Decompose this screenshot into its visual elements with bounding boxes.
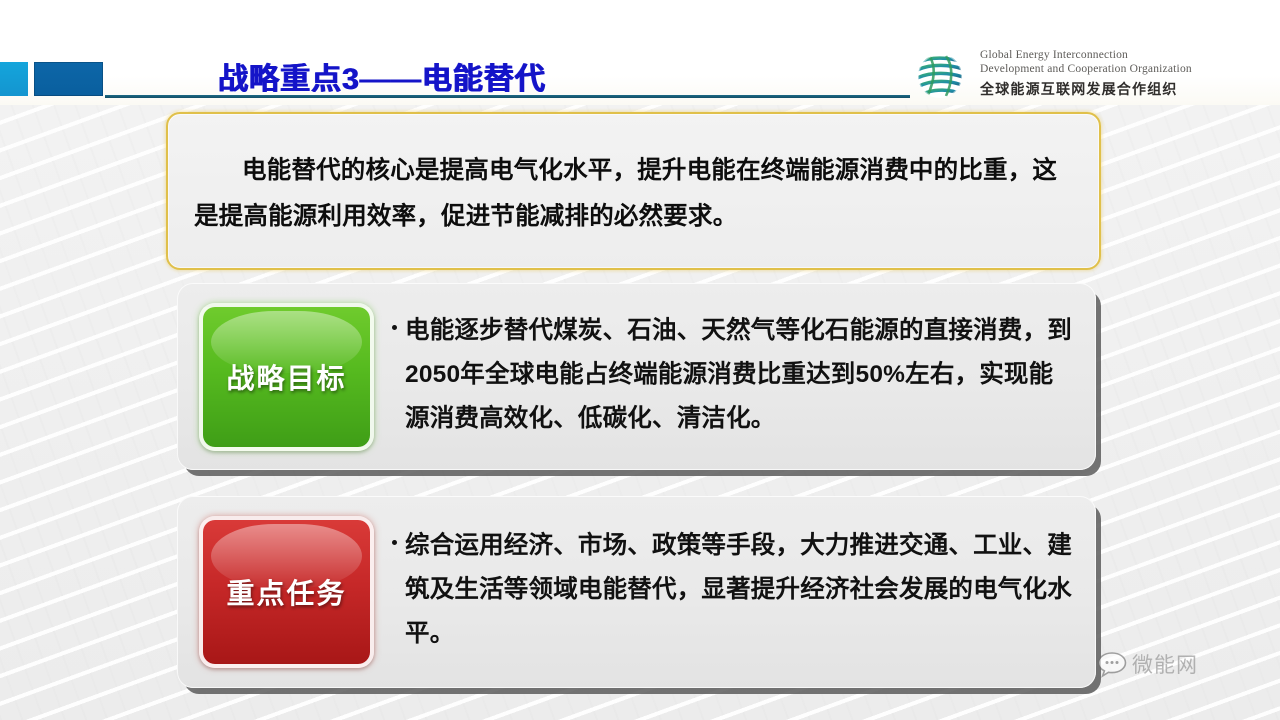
key-task-body: 综合运用经济、市场、政策等手段，大力推进交通、工业、建筑及生活等领域电能替代，显…	[405, 524, 1075, 656]
globe-icon	[912, 51, 968, 101]
strategy-goal-card: 战略目标 电能逐步替代煤炭、石油、天然气等化石能源的直接消费，到2050年全球电…	[177, 283, 1096, 470]
strategy-goal-text: 电能逐步替代煤炭、石油、天然气等化石能源的直接消费，到2050年全球电能占终端能…	[405, 317, 1072, 432]
site-watermark: 微能网	[1096, 648, 1198, 680]
page-title: 战略重点3——电能替代	[218, 54, 546, 98]
logo-text-block: Global Energy Interconnection Developmen…	[980, 49, 1260, 99]
speech-bubble-icon	[1096, 648, 1128, 680]
intro-paragraph: 电能替代的核心是提高电气化水平，提升电能在终端能源消费中的比重，这是提高能源利用…	[194, 148, 1076, 240]
header-accent-block-dark	[34, 62, 103, 96]
organization-logo: Global Energy Interconnection Developmen…	[912, 49, 1262, 103]
badge-label: 战略目标	[226, 357, 346, 397]
key-task-card: 重点任务 综合运用经济、市场、政策等手段，大力推进交通、工业、建筑及生活等领域电…	[177, 496, 1096, 688]
slide-header: 战略重点3——电能替代	[0, 0, 1280, 105]
strategy-goal-badge: 战略目标	[199, 303, 374, 451]
logo-english-line-2: Development and Cooperation Organization	[980, 63, 1260, 77]
watermark-label: 微能网	[1132, 649, 1198, 679]
key-task-text: 综合运用经济、市场、政策等手段，大力推进交通、工业、建筑及生活等领域电能替代，显…	[405, 532, 1072, 647]
slide-root: 战略重点3——电能替代	[0, 0, 1280, 720]
key-task-badge: 重点任务	[199, 516, 374, 668]
bullet-icon	[392, 325, 397, 330]
logo-english-line-1: Global Energy Interconnection	[980, 49, 1260, 63]
logo-chinese-name: 全球能源互联网发展合作组织	[980, 79, 1260, 99]
badge-label: 重点任务	[226, 572, 346, 612]
intro-callout-box: 电能替代的核心是提高电气化水平，提升电能在终端能源消费中的比重，这是提高能源利用…	[166, 112, 1101, 270]
strategy-goal-body: 电能逐步替代煤炭、石油、天然气等化石能源的直接消费，到2050年全球电能占终端能…	[405, 309, 1075, 441]
bullet-icon	[392, 540, 397, 545]
title-underline	[105, 95, 910, 98]
header-accent-block-light	[0, 62, 28, 96]
